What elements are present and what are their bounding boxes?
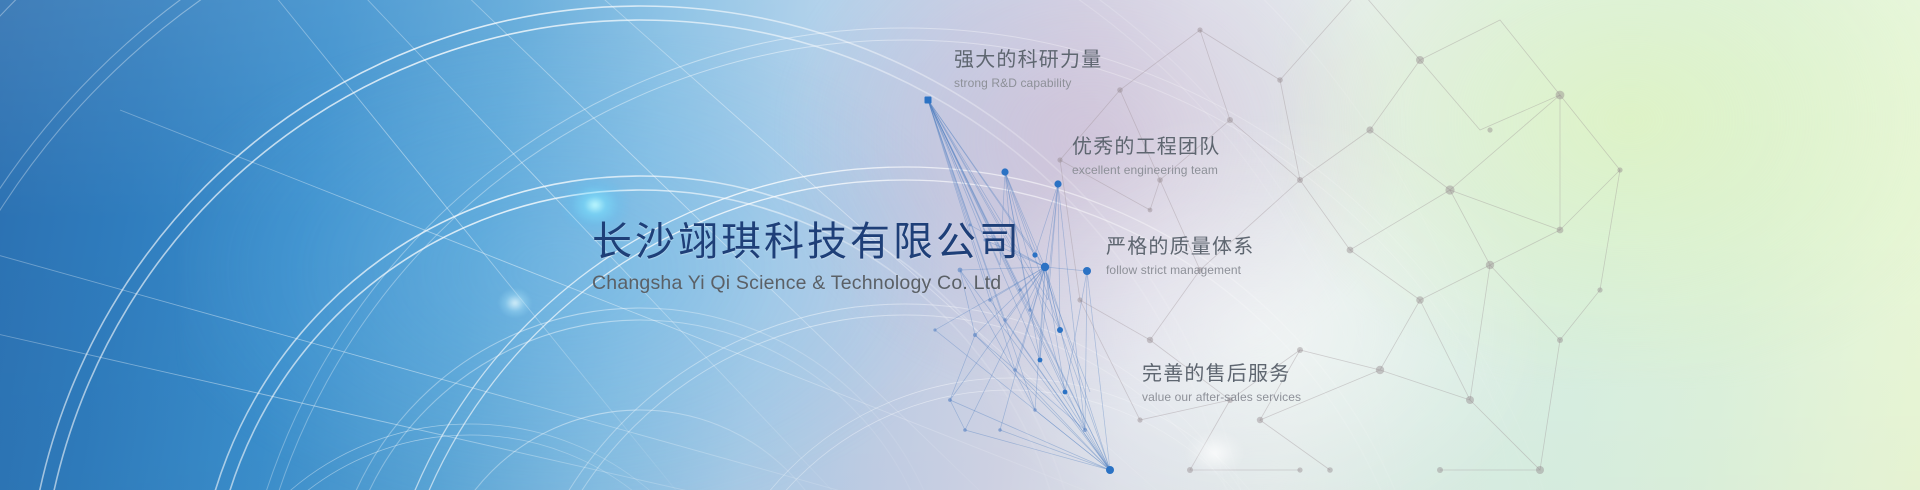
feature-title-cn-1: 优秀的工程团队 [1072, 135, 1220, 160]
feature-title-cn-2: 严格的质量体系 [1106, 235, 1254, 260]
feature-callout-rd: 强大的科研力量 strong R&D capability [954, 48, 1102, 92]
feature-callout-service: 完善的售后服务 value our after-sales services [1142, 362, 1301, 406]
feature-callout-quality: 严格的质量体系 follow strict management [1106, 235, 1254, 279]
feature-title-en-1: excellent engineering team [1072, 163, 1220, 179]
company-name-en: Changsha Yi Qi Science & Technology Co. … [592, 272, 1022, 295]
feature-title-en-2: follow strict management [1106, 263, 1254, 279]
feature-title-cn-0: 强大的科研力量 [954, 48, 1102, 73]
company-name-cn: 长沙翊琪科技有限公司 [592, 218, 1022, 266]
bottom-light-flare-icon [1185, 430, 1245, 476]
feature-title-en-3: value our after-sales services [1142, 390, 1301, 406]
feature-callout-team: 优秀的工程团队 excellent engineering team [1072, 135, 1220, 179]
hero-banner: 长沙翊琪科技有限公司 Changsha Yi Qi Science & Tech… [0, 0, 1920, 490]
small-light-flare-icon [498, 288, 532, 318]
company-title-block: 长沙翊琪科技有限公司 Changsha Yi Qi Science & Tech… [592, 218, 1022, 295]
feature-title-cn-3: 完善的售后服务 [1142, 362, 1301, 387]
feature-title-en-0: strong R&D capability [954, 76, 1102, 92]
